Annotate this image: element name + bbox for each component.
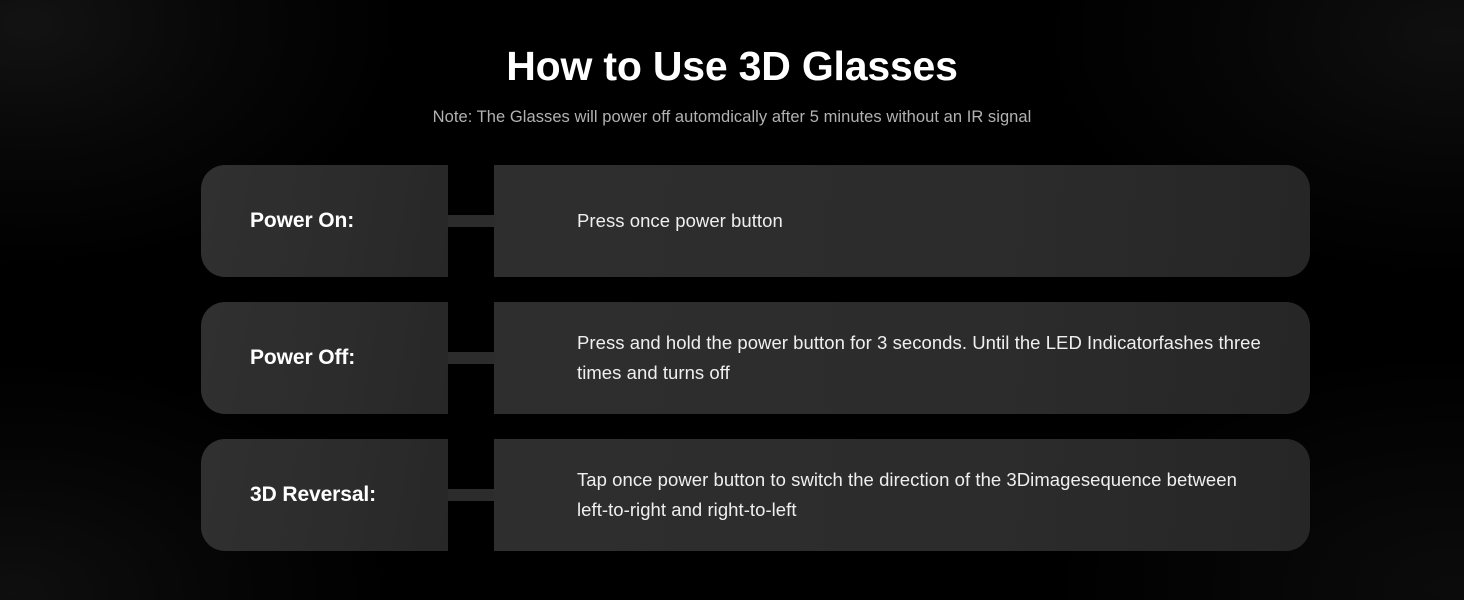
row-label: Power Off: (250, 345, 355, 371)
instruction-row: 3D Reversal: Tap once power button to sw… (201, 439, 1310, 551)
row-description: Tap once power button to switch the dire… (577, 465, 1270, 525)
row-label: Power On: (250, 208, 354, 234)
page-subtitle-note: Note: The Glasses will power off automdi… (0, 92, 1464, 128)
row-connector-bar (448, 352, 494, 364)
instruction-card: How to Use 3D Glasses Note: The Glasses … (0, 0, 1464, 600)
page-title: How to Use 3D Glasses (0, 40, 1464, 92)
row-description-panel-power-on: Press once power button (494, 165, 1310, 277)
row-label: 3D Reversal: (250, 482, 376, 508)
row-description-panel-3d-reversal: Tap once power button to switch the dire… (494, 439, 1310, 551)
row-label-panel-power-on: Power On: (201, 165, 448, 277)
row-description-panel-power-off: Press and hold the power button for 3 se… (494, 302, 1310, 414)
instruction-rows: Power On: Press once power button Power … (201, 165, 1310, 551)
row-connector-bar (448, 489, 494, 501)
instruction-row: Power Off: Press and hold the power butt… (201, 302, 1310, 414)
row-description: Press and hold the power button for 3 se… (577, 328, 1270, 388)
row-label-panel-3d-reversal: 3D Reversal: (201, 439, 448, 551)
instruction-row: Power On: Press once power button (201, 165, 1310, 277)
row-description: Press once power button (577, 206, 783, 236)
row-connector-bar (448, 215, 494, 227)
header: How to Use 3D Glasses Note: The Glasses … (0, 40, 1464, 128)
row-label-panel-power-off: Power Off: (201, 302, 448, 414)
